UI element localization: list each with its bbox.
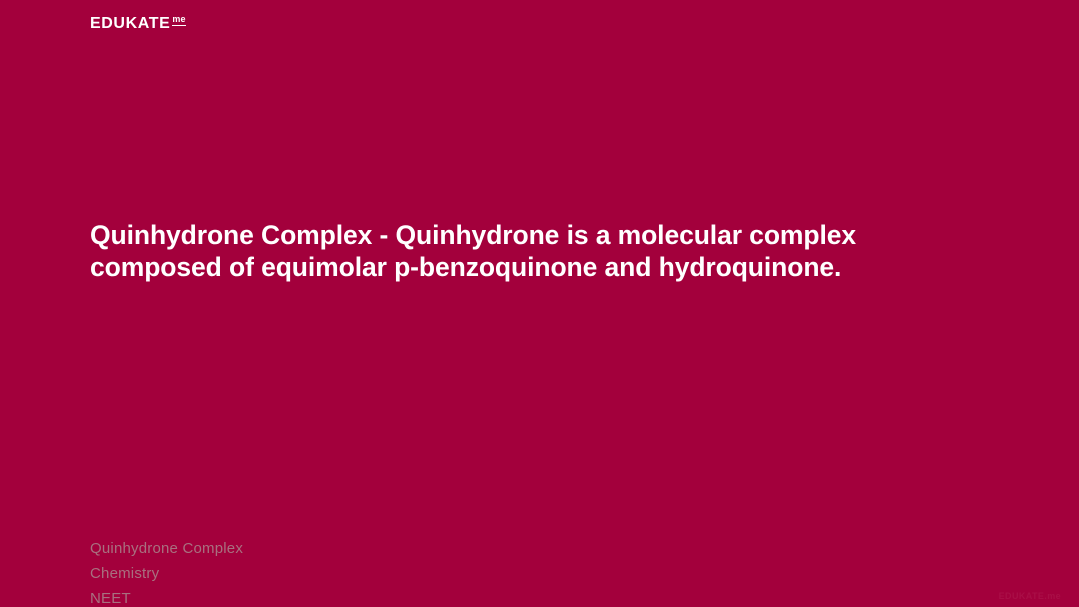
brand-logo[interactable]: EDUKATE me xyxy=(90,16,186,32)
footer-meta: Quinhydrone Complex Chemistry NEET xyxy=(90,536,243,607)
brand-suffix: me xyxy=(172,15,185,26)
brand-name: EDUKATE xyxy=(90,16,170,32)
slide-canvas: EDUKATE me Quinhydrone Complex - Quinhyd… xyxy=(0,0,1079,607)
page-title: Quinhydrone Complex - Quinhydrone is a m… xyxy=(90,219,950,283)
corner-watermark: EDUKATE.me xyxy=(999,591,1061,601)
footer-subject: Chemistry xyxy=(90,561,243,586)
footer-topic: Quinhydrone Complex xyxy=(90,536,243,561)
footer-exam: NEET xyxy=(90,586,243,607)
